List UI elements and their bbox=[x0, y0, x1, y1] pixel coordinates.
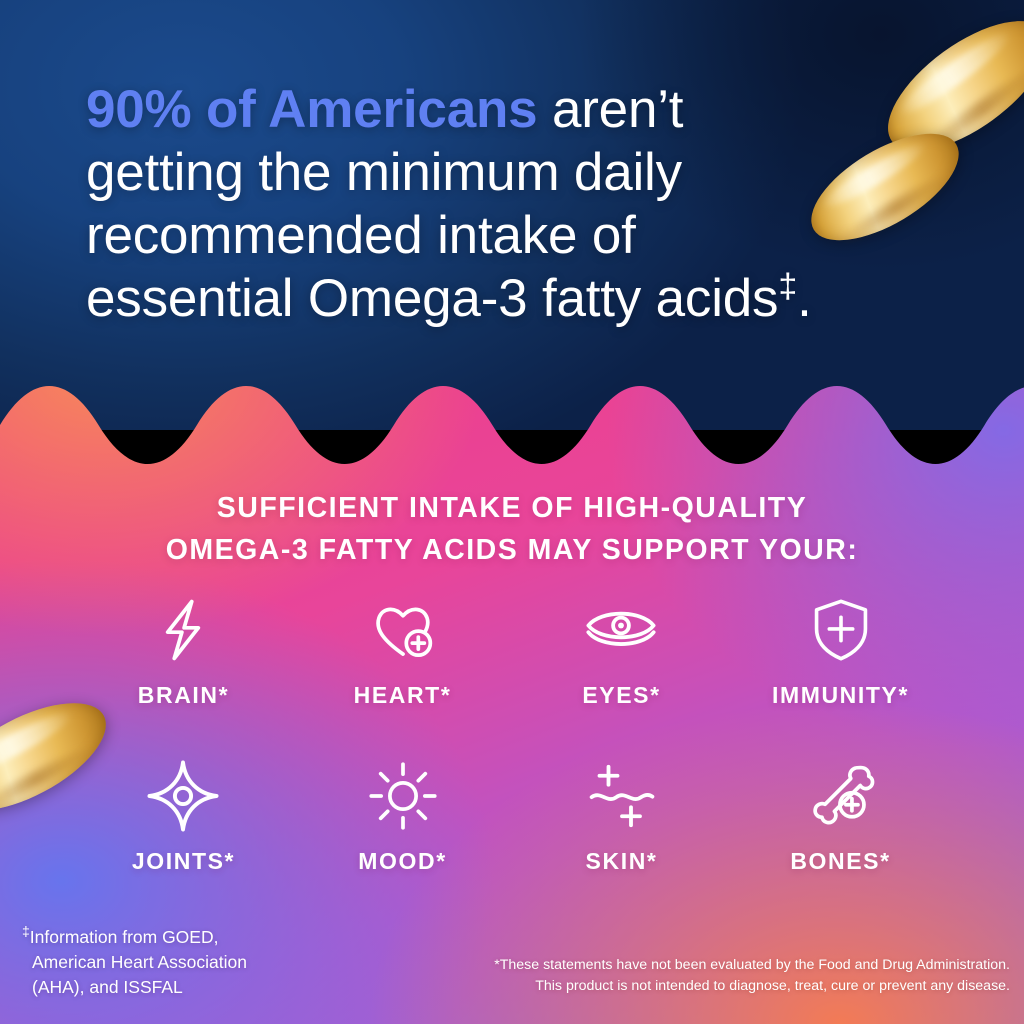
benefit-label: BRAIN* bbox=[138, 682, 229, 709]
four-point-star-icon bbox=[145, 758, 221, 834]
benefit-item-immunity: IMMUNITY* bbox=[772, 592, 909, 709]
benefit-label: EYES* bbox=[582, 682, 660, 709]
headline-line2: getting the minimum daily bbox=[86, 143, 682, 202]
benefit-label: HEART* bbox=[354, 682, 452, 709]
benefits-subheading: SUFFICIENT INTAKE OF HIGH-QUALITY OMEGA-… bbox=[0, 487, 1024, 571]
benefit-item-joints: JOINTS* bbox=[132, 758, 235, 875]
benefit-item-bones: BONES* bbox=[790, 758, 890, 875]
fda-disclaimer-line-1: *These statements have not been evaluate… bbox=[410, 955, 1010, 976]
headline-line3: recommended intake of bbox=[86, 206, 636, 265]
subheading-line-1: SUFFICIENT INTAKE OF HIGH-QUALITY bbox=[217, 492, 807, 524]
benefit-label: SKIN* bbox=[586, 848, 658, 875]
benefits-grid: BRAIN* HEART* EYES* IMMUNITY* JOINTS* MO… bbox=[74, 592, 950, 924]
headline-accent: 90% of Americans bbox=[86, 80, 537, 139]
benefit-item-mood: MOOD* bbox=[358, 758, 447, 875]
heart-plus-icon bbox=[365, 592, 441, 668]
benefit-item-eyes: EYES* bbox=[582, 592, 660, 709]
headline-line1-rest: aren’t bbox=[537, 80, 683, 139]
fda-disclaimer: *These statements have not been evaluate… bbox=[410, 955, 1010, 997]
eye-icon bbox=[583, 592, 659, 668]
benefit-label: JOINTS* bbox=[132, 848, 235, 875]
benefit-item-skin: SKIN* bbox=[584, 758, 660, 875]
sun-icon bbox=[365, 758, 441, 834]
lightning-bolt-icon bbox=[145, 592, 221, 668]
subheading-line-2: OMEGA-3 FATTY ACIDS MAY SUPPORT YOUR: bbox=[0, 529, 1024, 571]
footnote-sources-line-3: (AHA), and ISSFAL bbox=[22, 975, 247, 1000]
headline-period: . bbox=[797, 269, 812, 328]
page-headline: 90% of Americans aren’t getting the mini… bbox=[86, 78, 966, 330]
omega3-benefits-infographic: 90% of Americans aren’t getting the mini… bbox=[0, 0, 1024, 1024]
skin-sparkle-icon bbox=[584, 758, 660, 834]
benefit-label: BONES* bbox=[790, 848, 890, 875]
bone-plus-icon bbox=[803, 758, 879, 834]
footnote-sources-line-1: Information from GOED, bbox=[30, 927, 219, 947]
benefit-item-heart: HEART* bbox=[354, 592, 452, 709]
benefit-label: IMMUNITY* bbox=[772, 682, 909, 709]
fda-disclaimer-line-2: This product is not intended to diagnose… bbox=[410, 976, 1010, 997]
benefit-label: MOOD* bbox=[358, 848, 447, 875]
footnote-dagger-marker: ‡ bbox=[22, 923, 30, 939]
footnote-sources-line-2: American Heart Association bbox=[22, 950, 247, 975]
headline-line4: essential Omega-3 fatty acids bbox=[86, 269, 778, 328]
headline-dagger-footnote-marker: ‡ bbox=[778, 267, 797, 305]
footnote-sources: ‡Information from GOED, American Heart A… bbox=[22, 925, 247, 1000]
benefit-item-brain: BRAIN* bbox=[138, 592, 229, 709]
shield-plus-icon bbox=[803, 592, 879, 668]
